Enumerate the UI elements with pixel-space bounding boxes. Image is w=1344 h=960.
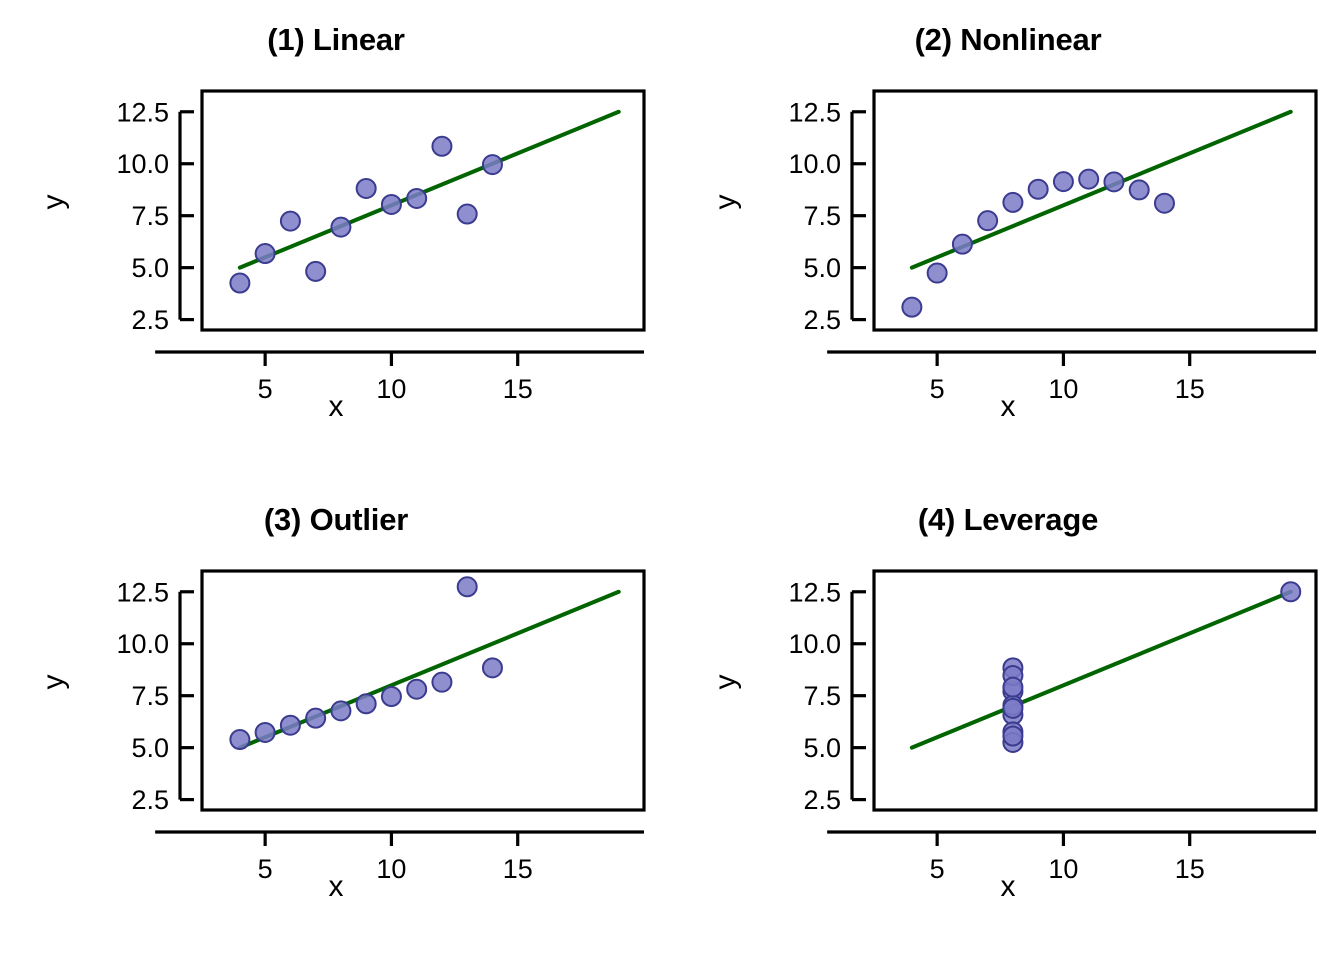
data-point	[483, 658, 502, 677]
data-point	[458, 577, 477, 596]
y-tick-label: 7.5	[131, 201, 169, 231]
data-point	[1003, 193, 1022, 212]
y-tick-label: 10.0	[116, 629, 169, 659]
y-tick-label: 2.5	[803, 305, 841, 335]
data-point	[458, 205, 477, 224]
data-point	[1003, 727, 1022, 746]
y-axis-title: y	[37, 662, 71, 702]
data-point	[1029, 180, 1048, 199]
data-point	[256, 723, 275, 742]
data-point	[407, 189, 426, 208]
data-point	[1003, 699, 1022, 718]
data-layer	[912, 582, 1300, 752]
data-point	[331, 218, 350, 237]
y-tick-label: 10.0	[788, 149, 841, 179]
regression-line	[912, 592, 1291, 748]
y-tick-label: 10.0	[116, 149, 169, 179]
anscombe-quartet-figure: (1) Linear 2.55.07.510.012.551015 y x (2…	[0, 0, 1344, 960]
y-tick-label: 12.5	[788, 97, 841, 127]
y-axis-title: y	[709, 182, 743, 222]
data-point	[1155, 194, 1174, 213]
y-tick-label: 5.0	[131, 253, 169, 283]
data-point	[902, 298, 921, 317]
y-tick-label: 12.5	[788, 577, 841, 607]
data-point	[1003, 678, 1022, 697]
data-layer	[230, 112, 618, 293]
data-point	[928, 264, 947, 283]
panel-linear: (1) Linear 2.55.07.510.012.551015 y x	[0, 0, 672, 480]
data-point	[1130, 180, 1149, 199]
data-point	[1104, 172, 1123, 191]
y-axis-title: y	[37, 182, 71, 222]
panel-outlier: (3) Outlier 2.55.07.510.012.551015 y x	[0, 480, 672, 960]
y-tick-label: 10.0	[788, 629, 841, 659]
y-tick-label: 5.0	[131, 733, 169, 763]
data-layer	[902, 112, 1290, 317]
panel-nonlinear: (2) Nonlinear 2.55.07.510.012.551015 y x	[672, 0, 1344, 480]
data-point	[256, 244, 275, 263]
y-axis-title: y	[709, 662, 743, 702]
x-axis-title: x	[0, 870, 672, 904]
data-point	[1281, 582, 1300, 601]
y-tick-label: 7.5	[803, 681, 841, 711]
data-point	[483, 155, 502, 174]
data-point	[978, 211, 997, 230]
data-point	[407, 680, 426, 699]
data-point	[306, 709, 325, 728]
y-tick-label: 2.5	[131, 785, 169, 815]
data-point	[230, 730, 249, 749]
data-point	[331, 701, 350, 720]
panel-leverage: (4) Leverage 2.55.07.510.012.551015 y x	[672, 480, 1344, 960]
y-tick-label: 12.5	[116, 97, 169, 127]
data-point	[382, 195, 401, 214]
data-point	[230, 274, 249, 293]
data-point	[306, 262, 325, 281]
data-point	[281, 716, 300, 735]
data-point	[432, 673, 451, 692]
x-axis-title: x	[672, 870, 1344, 904]
data-point	[953, 235, 972, 254]
x-axis-title: x	[672, 390, 1344, 424]
data-point	[281, 212, 300, 231]
data-layer	[230, 577, 618, 749]
data-point	[1079, 170, 1098, 189]
y-tick-label: 5.0	[803, 733, 841, 763]
x-axis-title: x	[0, 390, 672, 424]
y-tick-label: 2.5	[803, 785, 841, 815]
y-tick-label: 2.5	[131, 305, 169, 335]
data-point	[432, 137, 451, 156]
y-tick-label: 12.5	[116, 577, 169, 607]
y-tick-label: 7.5	[803, 201, 841, 231]
regression-line	[240, 112, 619, 268]
data-point	[1054, 172, 1073, 191]
data-point	[357, 179, 376, 198]
y-tick-label: 5.0	[803, 253, 841, 283]
data-point	[357, 694, 376, 713]
data-point	[382, 687, 401, 706]
y-tick-label: 7.5	[131, 681, 169, 711]
